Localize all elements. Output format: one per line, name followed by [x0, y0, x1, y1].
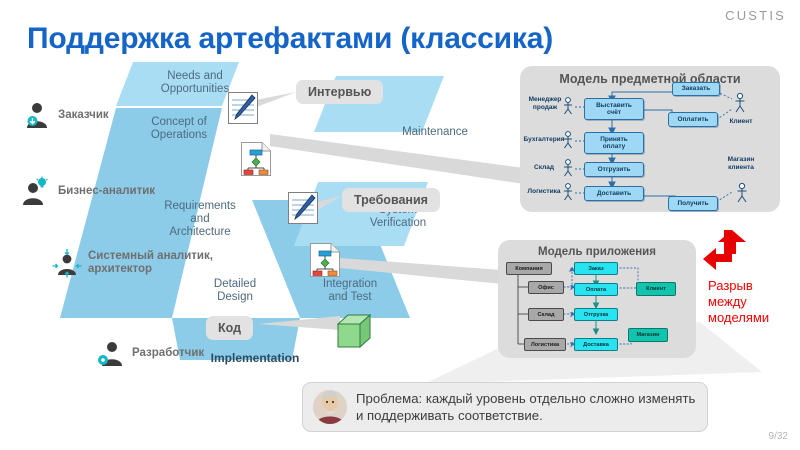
page-number: 9/32 — [769, 431, 788, 442]
gap-line-2: между — [708, 294, 769, 310]
app-node-shipment[interactable]: Отгрузка — [574, 308, 618, 321]
app-node-client[interactable]: Клиент — [636, 282, 676, 296]
domain-actor-accounting: Бухгалтерия — [522, 136, 566, 144]
custis-logo: CUSTIS — [725, 8, 786, 23]
domain-actor-logistics: Логистика — [522, 188, 566, 196]
problem-note: Проблема: каждый уровень отдельно сложно… — [302, 382, 708, 432]
gap-label: Разрыв между моделями — [708, 278, 769, 326]
person-arrows-icon — [52, 248, 82, 278]
v-stage-maintenance: Maintenance — [380, 126, 490, 139]
domain-actor-client-store: Магазин клиента — [718, 156, 764, 171]
usecase-issue-invoice[interactable]: Выставить счёт — [584, 98, 644, 120]
person-download-icon — [22, 100, 52, 130]
role-label: Бизнес-аналитик — [58, 185, 155, 198]
role-customer: Заказчик — [22, 100, 109, 130]
callout-requirements[interactable]: Требования — [342, 188, 440, 212]
role-business-analyst: Бизнес-аналитик — [22, 176, 155, 206]
usecase-pay[interactable]: Оплатить — [668, 112, 718, 127]
usecase-accept-payment[interactable]: Принять оплату — [584, 132, 644, 154]
artifact-note-pen-2 — [288, 192, 318, 229]
app-node-store[interactable]: Магазин — [628, 328, 668, 342]
role-label: Заказчик — [58, 109, 109, 122]
gap-line-3: моделями — [708, 310, 769, 326]
role-label: Системный аналитик, архитектор — [88, 250, 213, 276]
usecase-deliver[interactable]: Доставить — [584, 186, 644, 201]
artifact-diagram-doc-1 — [241, 142, 271, 181]
person-gear-icon — [96, 338, 126, 368]
person-idea-icon — [22, 176, 52, 206]
app-node-order[interactable]: Заказ — [574, 262, 618, 275]
app-node-office[interactable]: Офис — [528, 281, 564, 294]
app-node-warehouse[interactable]: Склад — [528, 308, 564, 321]
domain-model-panel: Модель предметной области — [520, 66, 780, 212]
app-node-logistics[interactable]: Логистика — [524, 338, 566, 351]
app-model-panel: Модель приложения — [498, 240, 696, 358]
slide: CUSTIS Поддержка артефактами (классика) … — [0, 0, 800, 450]
callout-code[interactable]: Код — [206, 316, 253, 340]
artifact-diagram-doc-2 — [310, 243, 340, 282]
v-stage-implementation: Implementation — [190, 352, 320, 365]
artifact-note-pen-1 — [228, 92, 258, 129]
callout-interview[interactable]: Интервью — [296, 80, 383, 104]
role-system-analyst-architect: Системный аналитик, архитектор — [52, 248, 213, 278]
avatar — [313, 390, 347, 424]
gap-line-1: Разрыв — [708, 278, 769, 294]
usecase-receive[interactable]: Получить — [668, 196, 718, 211]
problem-note-text: Проблема: каждый уровень отдельно сложно… — [356, 390, 697, 424]
v-stage-concept: Concept of Operations — [124, 116, 234, 142]
usecase-order[interactable]: Заказать — [672, 82, 720, 96]
app-node-delivery[interactable]: Доставка — [574, 338, 618, 351]
role-developer: Разработчик — [96, 338, 204, 368]
v-stage-requirements: Requirements and Architecture — [150, 200, 250, 239]
page-title: Поддержка артефактами (классика) — [27, 22, 553, 56]
artifact-cube-icon — [334, 310, 376, 357]
domain-actor-warehouse: Склад — [522, 164, 566, 172]
domain-actor-sales-manager: Менеджер продаж — [524, 96, 566, 111]
app-node-company[interactable]: Компания — [506, 262, 552, 275]
domain-actor-client: Клиент — [720, 118, 762, 126]
v-stage-detailed-design: Detailed Design — [190, 278, 280, 304]
role-label: Разработчик — [132, 347, 204, 360]
app-node-payment[interactable]: Оплата — [574, 283, 618, 296]
usecase-ship[interactable]: Отгрузить — [584, 162, 644, 177]
